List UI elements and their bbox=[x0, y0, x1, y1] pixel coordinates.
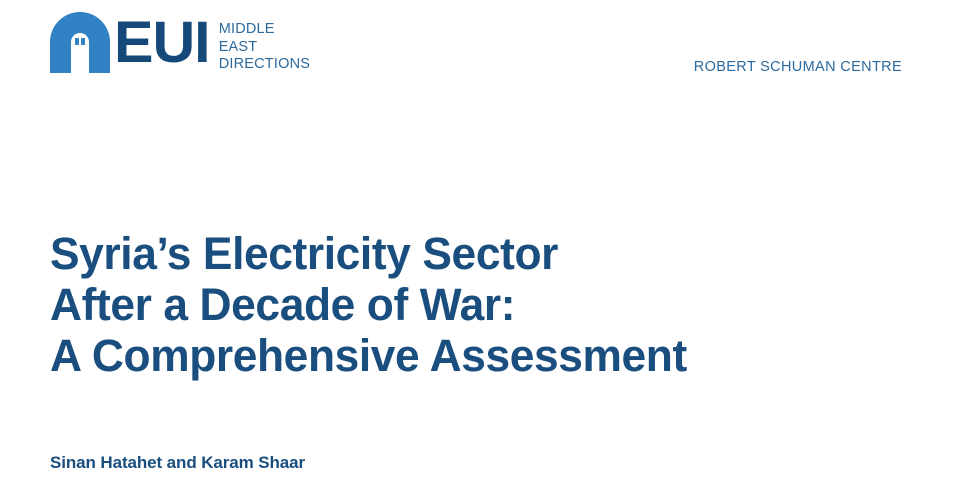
title-line-3: A Comprehensive Assessment bbox=[50, 330, 897, 381]
page-title: Syria’s Electricity Sector After a Decad… bbox=[50, 228, 910, 381]
title-line-2: After a Decade of War: bbox=[50, 279, 897, 330]
cover-page: EUI MIDDLE EAST DIRECTIONS ROBERT SCHUMA… bbox=[0, 0, 960, 480]
eui-wordmark: EUI bbox=[114, 14, 210, 72]
title-line-1: Syria’s Electricity Sector bbox=[50, 228, 897, 279]
programme-line-3: DIRECTIONS bbox=[219, 56, 310, 74]
programme-line-2: EAST bbox=[219, 39, 310, 57]
eui-arch-icon bbox=[50, 12, 110, 73]
robert-schuman-centre-label: ROBERT SCHUMAN CENTRE bbox=[694, 59, 902, 76]
middle-east-directions-label: MIDDLE EAST DIRECTIONS bbox=[219, 21, 310, 74]
eui-logo-lockup[interactable]: EUI MIDDLE EAST DIRECTIONS bbox=[50, 12, 310, 74]
authors-byline: Sinan Hatahet and Karam Shaar bbox=[50, 452, 305, 473]
programme-line-1: MIDDLE bbox=[219, 21, 310, 39]
